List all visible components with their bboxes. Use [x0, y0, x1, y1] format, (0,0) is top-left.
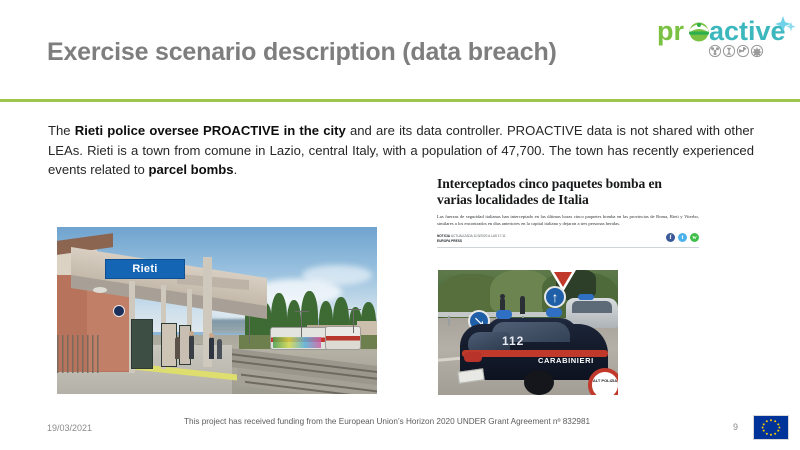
news-article-panel: Interceptados cinco paquetes bomba en va… — [437, 176, 699, 395]
car-emergency-number: 112 — [502, 334, 524, 348]
news-meta: NOTICIA ACTUALIZADA 11/3/2020 A LAS 17:1… — [437, 234, 506, 243]
svg-text:pr: pr — [657, 16, 684, 46]
footer-page-number: 9 — [733, 422, 738, 432]
news-meta-label: NOTICIA — [437, 234, 450, 238]
news-meta-updated: ACTUALIZADA 11/3/2020 A LAS 17:11 — [451, 234, 506, 238]
station-clock — [113, 305, 125, 317]
rieti-station-photo: Rieti — [57, 227, 377, 394]
proactive-logo-svg: pr active — [657, 14, 797, 59]
facebook-share-icon[interactable]: f — [666, 233, 675, 242]
news-social-share: f t w — [666, 233, 699, 242]
page-title: Exercise scenario description (data brea… — [47, 38, 557, 67]
scenario-paragraph: The Rieti police oversee PROACTIVE in th… — [48, 121, 754, 180]
car-agency-label: CARABINIERI — [538, 356, 594, 365]
rieti-station-sign: Rieti — [105, 259, 185, 279]
title-divider — [0, 99, 800, 102]
news-source: EUROPA PRESS — [437, 239, 506, 244]
news-meta-row: NOTICIA ACTUALIZADA 11/3/2020 A LAS 17:1… — [437, 234, 699, 243]
twitter-share-icon[interactable]: t — [678, 233, 687, 242]
news-divider — [437, 247, 699, 248]
rieti-sign-label: Rieti — [132, 263, 157, 275]
alt-polizia-label: ALT POLIZIA — [592, 378, 618, 383]
news-body-text: Las fuerzas de seguridad italianas han i… — [437, 214, 699, 227]
one-way-arrow-sign: ↑ — [544, 286, 566, 308]
whatsapp-share-icon[interactable]: w — [690, 233, 699, 242]
svg-text:active: active — [709, 16, 786, 46]
eu-flag-svg — [754, 416, 788, 439]
slide: Exercise scenario description (data brea… — [0, 0, 800, 450]
carabinieri-photo: ↑ ↘ 112 CARABINIERI ALT POLIZIA — [438, 270, 618, 395]
proactive-logo: pr active — [657, 14, 797, 59]
news-headline: Interceptados cinco paquetes bomba en va… — [437, 176, 699, 207]
footer-funding-text: This project has received funding from t… — [184, 417, 590, 426]
eu-flag — [753, 415, 789, 440]
footer-date: 19/03/2021 — [47, 423, 92, 433]
